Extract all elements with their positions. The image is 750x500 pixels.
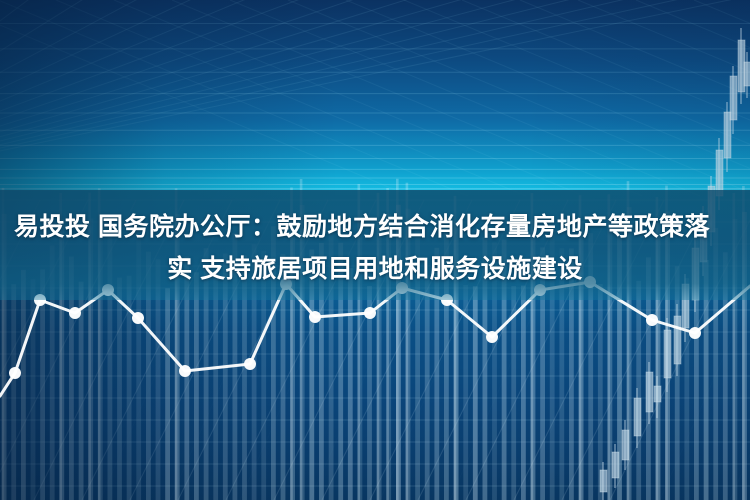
headline-line-1: 易投投 国务院办公厅：鼓励地方结合消化存量房地产等政策落 (0, 206, 750, 248)
banner-image: 易投投 国务院办公厅：鼓励地方结合消化存量房地产等政策落 实 支持旅居项目用地和… (0, 0, 750, 500)
headline-line-2: 实 支持旅居项目用地和服务设施建设 (0, 248, 750, 290)
page-title: 易投投 国务院办公厅：鼓励地方结合消化存量房地产等政策落 实 支持旅居项目用地和… (0, 206, 750, 290)
